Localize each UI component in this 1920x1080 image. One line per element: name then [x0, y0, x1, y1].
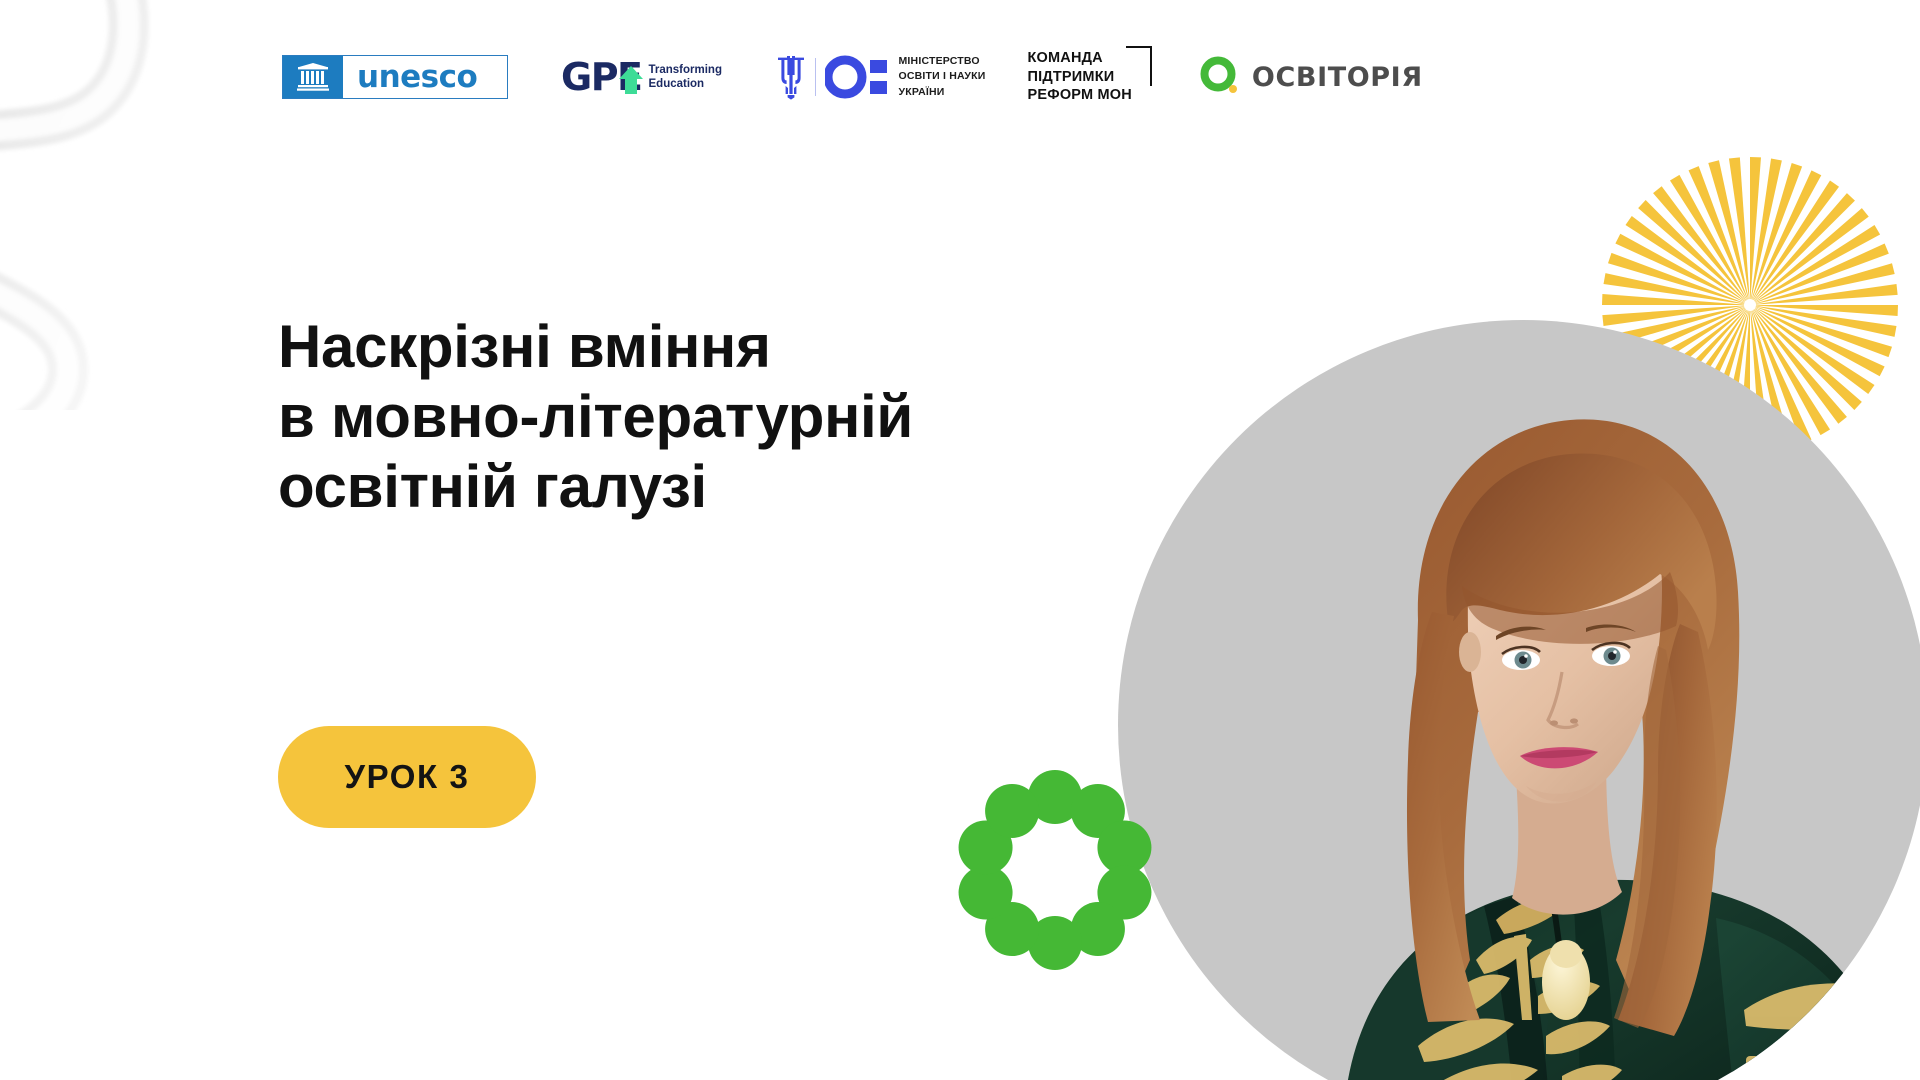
- gpe-tagline-line2: Education: [649, 77, 722, 91]
- speaker-portrait-circle: [1118, 320, 1920, 1080]
- corner-bracket-icon: [1126, 46, 1152, 86]
- mon-wordmark: МІНІСТЕРСТВО ОСВІТИ І НАУКИ УКРАЇНИ: [898, 54, 985, 100]
- reform-support-team-logo[interactable]: КОМАНДА ПІДТРИМКИ РЕФОРМ МОН: [1028, 49, 1150, 105]
- unesco-logo[interactable]: unesco: [282, 55, 508, 99]
- mon-o-mark-icon: [825, 55, 889, 99]
- reform-team-line3: РЕФОРМ МОН: [1028, 86, 1132, 105]
- mon-line3: УКРАЇНИ: [898, 85, 985, 100]
- osvitoria-logo[interactable]: ОСВІТОРІЯ: [1200, 55, 1423, 99]
- ukraine-trident-icon: [776, 54, 806, 100]
- reform-team-wordmark: КОМАНДА ПІДТРИМКИ РЕФОРМ МОН: [1028, 49, 1132, 105]
- mon-line2: ОСВІТИ І НАУКИ: [898, 69, 985, 84]
- unesco-wordmark: unesco: [343, 59, 477, 95]
- osvitoria-wordmark: ОСВІТОРІЯ: [1252, 62, 1423, 93]
- reform-team-line1: КОМАНДА: [1028, 49, 1132, 68]
- gpe-arrow-icon: [618, 64, 644, 96]
- lesson-badge-label: УРОК 3: [344, 758, 469, 796]
- reform-team-line2: ПІДТРИМКИ: [1028, 68, 1132, 87]
- osvitoria-ring-icon: [1200, 55, 1242, 99]
- page-title: Наскрізні вміння в мовно-літературній ос…: [278, 312, 1068, 523]
- speaker-photo: [1118, 320, 1920, 1080]
- gpe-tagline-line1: Transforming: [649, 63, 722, 77]
- slide-canvas: unesco GPE Transforming Education: [0, 0, 1920, 1080]
- gpe-tagline: Transforming Education: [649, 63, 722, 92]
- mon-line1: МІНІСТЕРСТВО: [898, 54, 985, 69]
- ministry-of-education-logo[interactable]: МІНІСТЕРСТВО ОСВІТИ І НАУКИ УКРАЇНИ: [776, 54, 986, 100]
- unesco-temple-icon: [283, 56, 343, 98]
- gpe-logo[interactable]: GPE Transforming Education: [561, 58, 722, 96]
- lesson-badge[interactable]: УРОК 3: [278, 726, 536, 828]
- white-ribbon-swirl: [0, 0, 300, 410]
- partner-logo-row: unesco GPE Transforming Education: [282, 46, 1423, 108]
